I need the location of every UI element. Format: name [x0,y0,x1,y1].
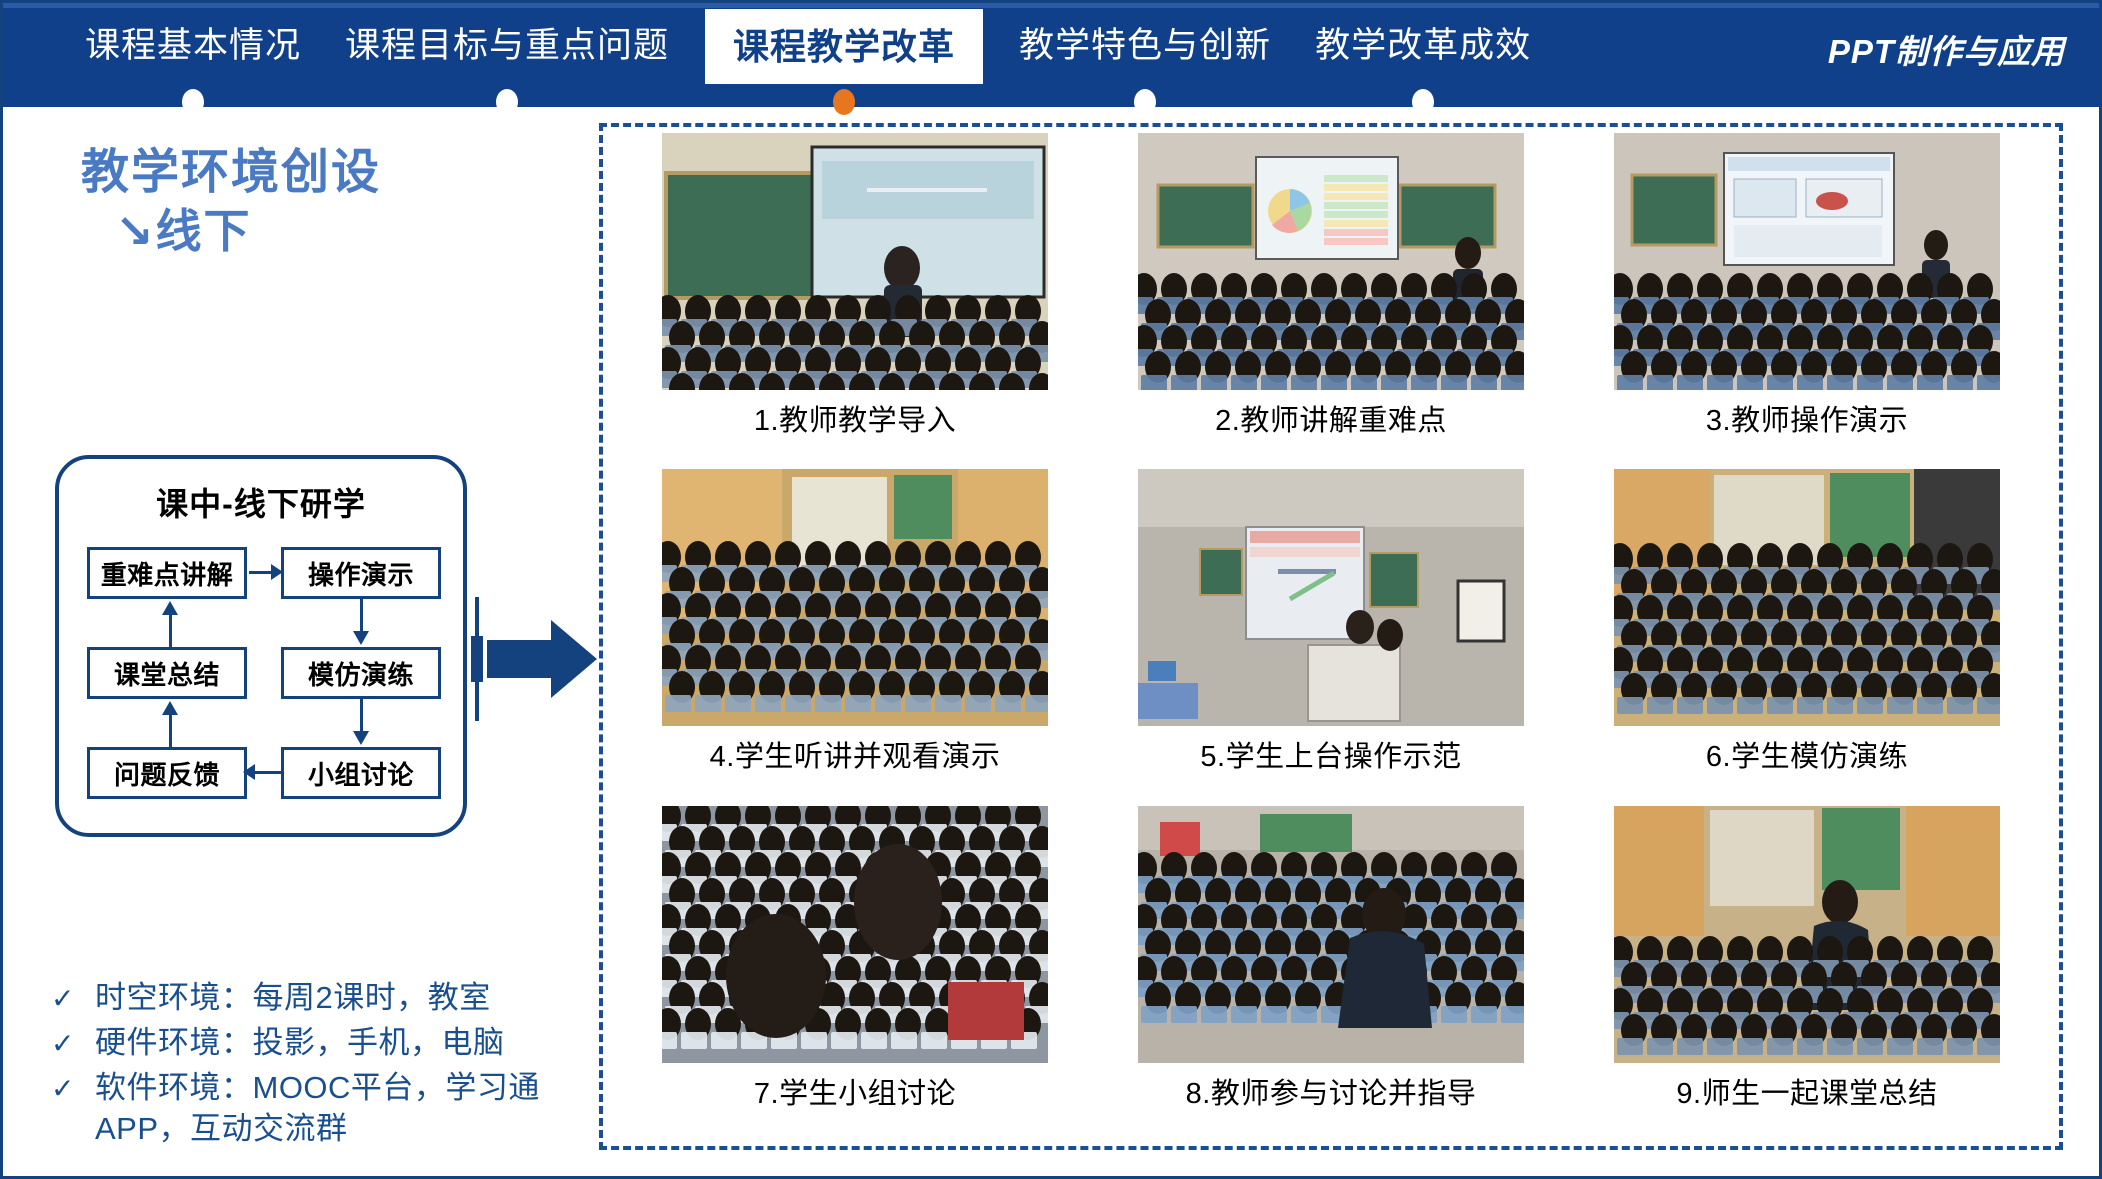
page-title: 教学环境创设 ↘线下 [81,143,381,261]
flow-arrow-5-head [162,701,178,715]
nav-tab-list[interactable]: 课程基本情况课程目标与重点问题课程教学改革教学特色与创新教学改革成效 [63,3,1553,89]
nav-tab-1[interactable]: 课程基本情况 [63,3,323,89]
photo-caption-5: 5.学生上台操作示范 [1200,733,1461,775]
nav-tab-5[interactable]: 教学改革成效 [1293,3,1553,89]
page-title-main: 教学环境创设 [81,146,381,199]
photo-cell-1: 1.教师教学导入 [617,133,1093,469]
flow-arrow-3-shaft [360,699,363,733]
photo-caption-6: 6.学生模仿演练 [1706,733,1908,775]
flow-node-operation-demo: 操作演示 [281,547,441,599]
classroom-photo-1 [662,133,1048,390]
environment-bullet-list: ✓时空环境：每周2课时，教室✓硬件环境：投影，手机，电脑✓软件环境：MOOC平台… [51,978,571,1154]
flow-node-group-discussion: 小组讨论 [281,747,441,799]
classroom-photo-3 [1614,133,2000,390]
flow-arrow-4-shaft [255,771,283,774]
flow-node-key-points: 重难点讲解 [87,547,247,599]
check-icon: ✓ [51,1023,95,1063]
photo-cell-8: 8.教师参与讨论并指导 [1093,806,1569,1142]
arrow-tip [551,620,597,698]
photo-grid: 1.教师教学导入2.教师讲解重难点3.教师操作演示4.学生听讲并观看演示5.学生… [603,127,2059,1146]
flow-arrow-6-head [162,601,178,615]
photo-cell-7: 7.学生小组讨论 [617,806,1093,1142]
flow-arrow-1-head [271,564,283,580]
flow-arrow-2-shaft [360,599,363,633]
photo-cell-9: 9.师生一起课堂总结 [1569,806,2045,1142]
flow-node-class-summary: 课堂总结 [87,647,247,699]
transition-arrow-icon [471,620,599,698]
photo-cell-4: 4.学生听讲并观看演示 [617,469,1093,805]
photo-caption-2: 2.教师讲解重难点 [1215,397,1447,439]
check-icon: ✓ [51,978,95,1018]
flow-arrow-5-shaft [169,713,172,747]
nav-tab-2[interactable]: 课程目标与重点问题 [323,3,691,89]
photo-caption-8: 8.教师参与讨论并指导 [1186,1070,1477,1112]
classroom-photo-9 [1614,806,2000,1063]
arrow-shaft [487,640,559,678]
nav-dot-5 [1412,89,1434,115]
flow-arrow-2-head [353,631,369,645]
photo-cell-3: 3.教师操作演示 [1569,133,2045,469]
photo-cell-5: 5.学生上台操作示范 [1093,469,1569,805]
photo-caption-7: 7.学生小组讨论 [754,1070,956,1112]
nav-dot-2 [496,89,518,115]
flow-node-imitation-practice: 模仿演练 [281,647,441,699]
bullet-item-3: ✓软件环境：MOOC平台，学习通APP，互动交流群 [51,1068,571,1150]
classroom-photo-6 [1614,469,2000,726]
photo-caption-4: 4.学生听讲并观看演示 [710,733,1001,775]
bullet-label: 软件环境：MOOC平台，学习通APP，互动交流群 [95,1068,571,1150]
bullet-item-2: ✓硬件环境：投影，手机，电脑 [51,1023,571,1064]
photo-cell-6: 6.学生模仿演练 [1569,469,2045,805]
nav-dot-1 [182,89,204,115]
flow-arrow-4-head [243,764,255,780]
photo-gallery-panel: 1.教师教学导入2.教师讲解重难点3.教师操作演示4.学生听讲并观看演示5.学生… [599,123,2063,1150]
brand-title: PPT制作与应用 [1828,25,2065,73]
flow-arrow-6-shaft [169,613,172,647]
photo-caption-9: 9.师生一起课堂总结 [1676,1070,1937,1112]
page-title-sub: ↘线下 [81,203,381,261]
nav-tab-3[interactable]: 课程教学改革 [705,9,983,84]
classroom-photo-5 [1138,469,1524,726]
photo-cell-2: 2.教师讲解重难点 [1093,133,1569,469]
classroom-photo-2 [1138,133,1524,390]
nav-dot-4 [1134,89,1156,115]
classroom-photo-7 [662,806,1048,1063]
flow-arrow-3-head [353,731,369,745]
top-navigation-bar: 课程基本情况课程目标与重点问题课程教学改革教学特色与创新教学改革成效 PPT制作… [3,3,2099,107]
bullet-label: 时空环境：每周2课时，教室 [95,978,571,1019]
classroom-photo-8 [1138,806,1524,1063]
bullet-item-1: ✓时空环境：每周2课时，教室 [51,978,571,1019]
arrow-stripe-1 [471,636,475,682]
bullet-label: 硬件环境：投影，手机，电脑 [95,1023,571,1064]
nav-tab-4[interactable]: 教学特色与创新 [997,3,1293,89]
photo-caption-3: 3.教师操作演示 [1706,397,1908,439]
photo-caption-1: 1.教师教学导入 [754,397,956,439]
offline-flow-diagram: 课中-线下研学 重难点讲解 操作演示 课堂总结 模仿演练 问题反馈 小组讨论 [55,455,467,837]
classroom-photo-4 [662,469,1048,726]
slide-root: 课程基本情况课程目标与重点问题课程教学改革教学特色与创新教学改革成效 PPT制作… [0,0,2102,1179]
nav-dot-3 [833,89,855,115]
flow-node-problem-feedback: 问题反馈 [87,747,247,799]
flow-diagram-heading: 课中-线下研学 [59,479,463,525]
arrow-stripe-2 [479,636,483,682]
check-icon: ✓ [51,1068,95,1108]
